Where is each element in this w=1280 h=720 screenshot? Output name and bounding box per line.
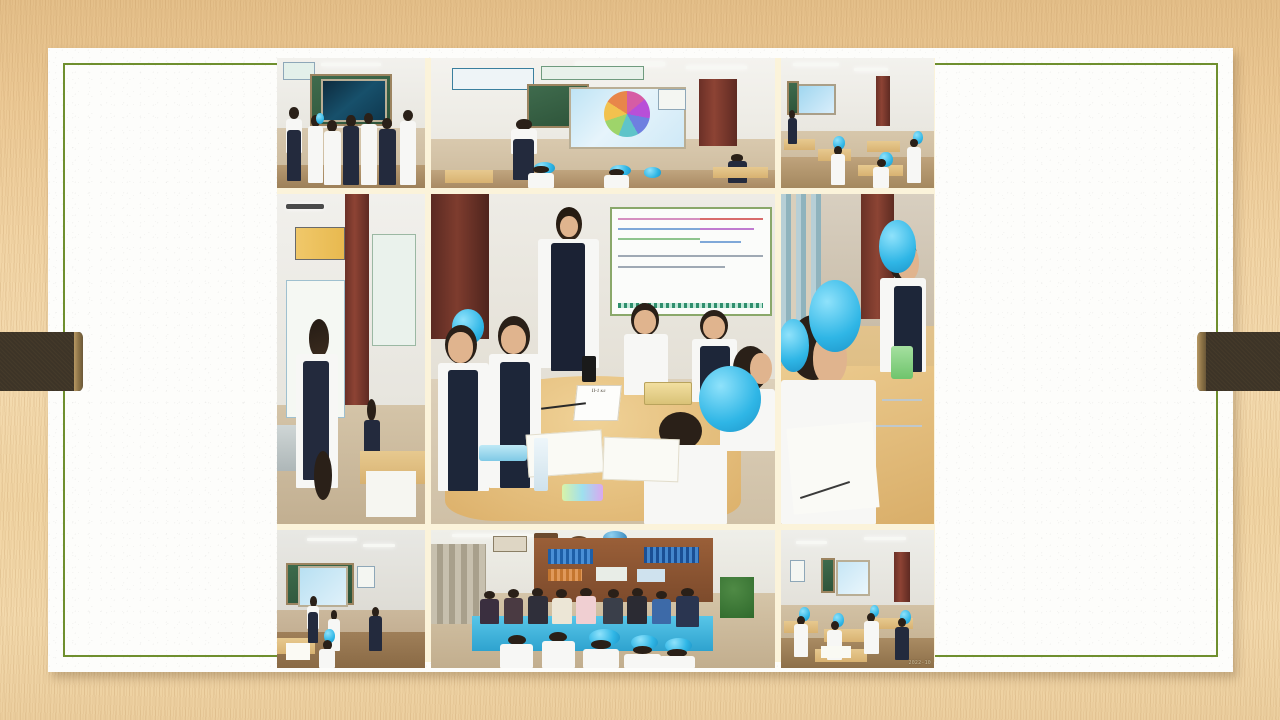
collage-photo-middle-left[interactable] (277, 194, 425, 524)
table-name-tent-label: II-1 кл (577, 389, 620, 394)
collage-photo-bottom-right[interactable]: 2022-10 (781, 530, 934, 668)
collage-photo-middle-right[interactable] (781, 194, 934, 524)
right-accent-bar-cap (1197, 332, 1206, 391)
collage-photo-main[interactable]: II-1 кл (431, 194, 775, 524)
photo-timestamp: 2022-10 (909, 660, 931, 666)
slide-stage: II-1 кл (0, 0, 1280, 720)
photo-collage: II-1 кл (277, 58, 935, 662)
collage-photo-bottom-center[interactable] (431, 530, 775, 668)
left-accent-bar-cap (74, 332, 83, 391)
left-accent-bar (0, 332, 82, 391)
slide-sheet: II-1 кл (48, 48, 1233, 672)
collage-photo-top-left[interactable] (277, 58, 425, 188)
collage-photo-top-center[interactable] (431, 58, 775, 188)
collage-photo-bottom-left[interactable] (277, 530, 425, 668)
collage-photo-top-right[interactable] (781, 58, 934, 188)
right-accent-bar (1198, 332, 1280, 391)
